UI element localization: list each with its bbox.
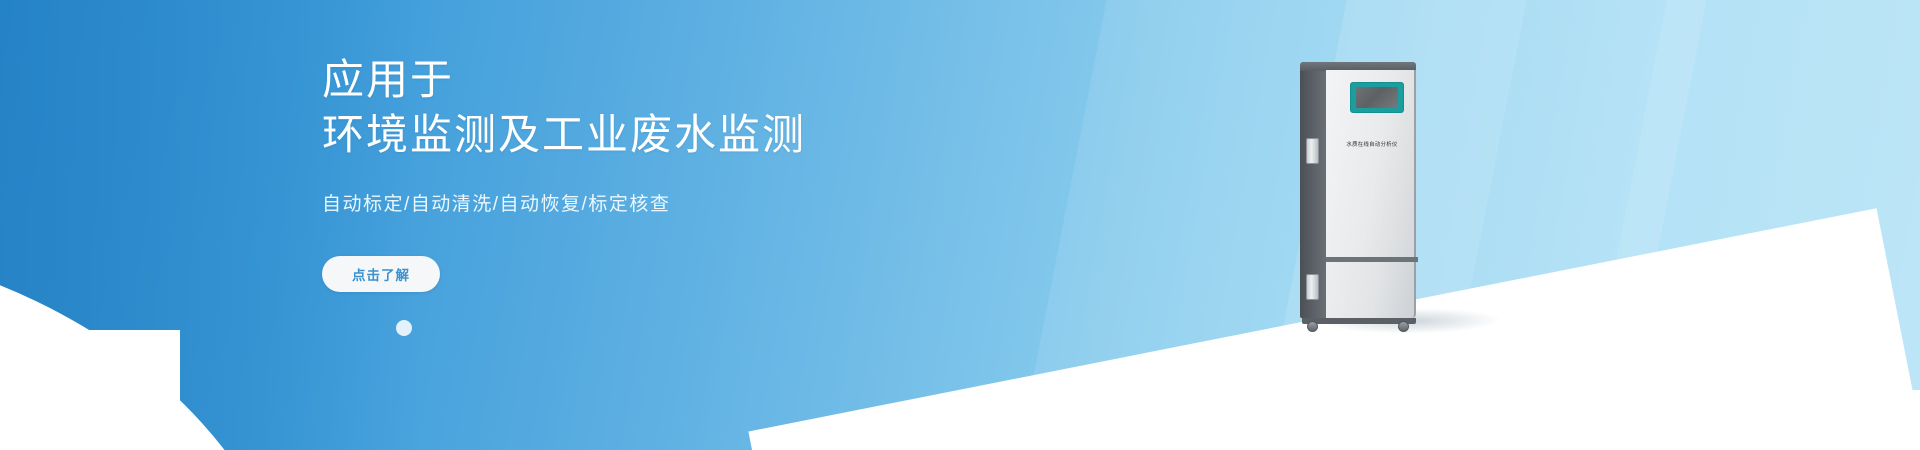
page-title: 应用于 环境监测及工业废水监测 [322, 52, 1082, 163]
headline-line-2: 环境监测及工业废水监测 [322, 107, 1082, 162]
background-white-fill-bottom-right [1400, 390, 1920, 450]
product-image-water-quality-analyzer: 水质在线自动分析仪 [1300, 62, 1440, 324]
banner-copy: 应用于 环境监测及工业废水监测 自动标定/自动清洗/自动恢复/标定核查 点击了解 [322, 52, 1082, 292]
background-white-fill-bottom-left [0, 330, 180, 450]
device-caster-left [1307, 321, 1318, 332]
device-screen-bezel [1350, 82, 1404, 113]
device-lower-drawer [1326, 262, 1416, 318]
hero-banner: 应用于 环境监测及工业废水监测 自动标定/自动清洗/自动恢复/标定核查 点击了解… [0, 0, 1920, 450]
headline-line-1: 应用于 [322, 56, 454, 103]
learn-more-button[interactable]: 点击了解 [322, 256, 440, 292]
device-product-label: 水质在线自动分析仪 [1330, 140, 1414, 148]
banner-subtitle: 自动标定/自动清洗/自动恢复/标定核查 [322, 189, 1082, 216]
device-display-screen [1356, 87, 1398, 108]
decorative-dot [396, 320, 412, 336]
device-handle-upper [1306, 138, 1319, 164]
device-caster-right [1398, 321, 1409, 332]
device-handle-lower [1306, 274, 1319, 300]
